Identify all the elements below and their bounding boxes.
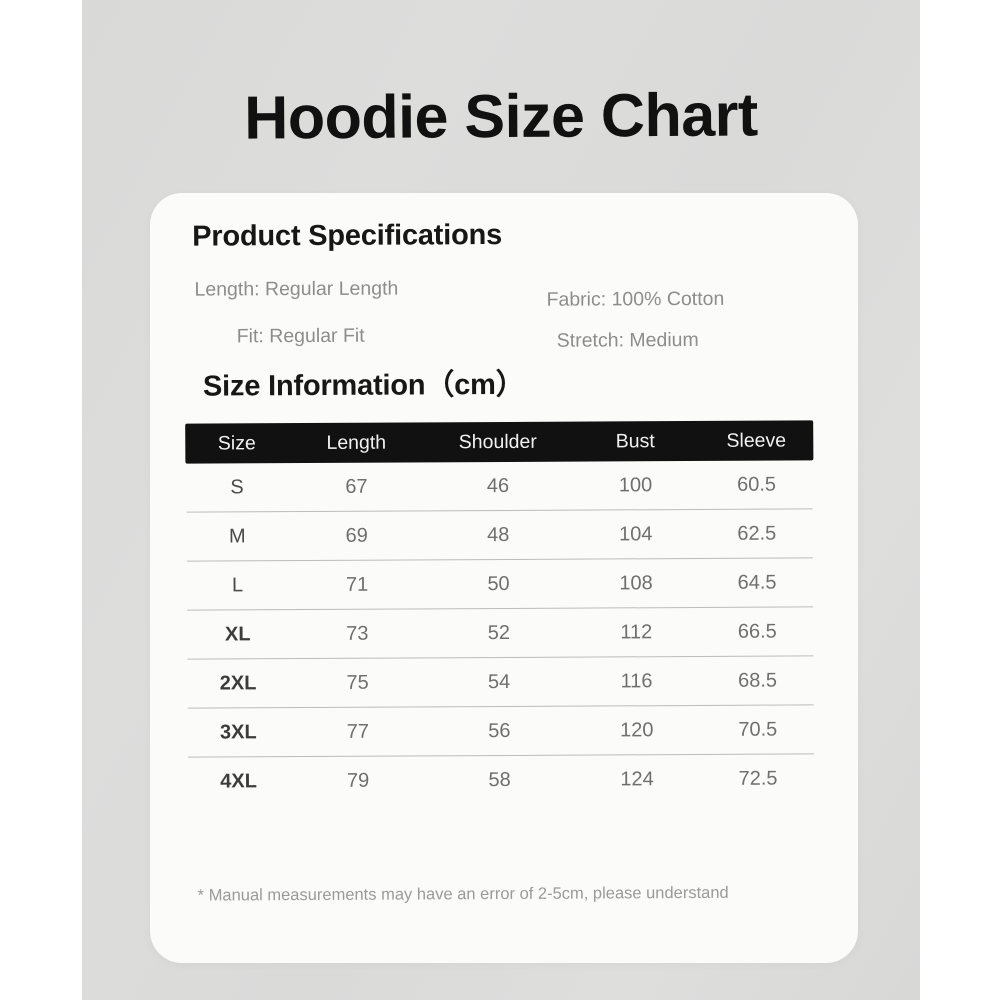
cell-sleeve: 62.5 [700, 522, 814, 546]
cell-sleeve: 68.5 [700, 669, 814, 693]
table-header-row: Size Length Shoulder Bust Sleeve [185, 420, 813, 463]
spec-length: Length: Regular Length [194, 278, 398, 302]
cell-sleeve: 72.5 [701, 767, 815, 791]
spec-card: Product Specifications Length: Regular L… [150, 193, 858, 963]
cell-sleeve: 66.5 [700, 620, 814, 644]
cell-size: 4XL [187, 770, 290, 794]
cell-shoulder: 50 [425, 572, 572, 596]
table-row: 2XL 75 54 116 68.5 [186, 656, 814, 707]
column-header-sleeve: Sleeve [699, 429, 813, 453]
cell-shoulder: 58 [426, 768, 573, 792]
cell-bust: 108 [572, 571, 700, 595]
cell-size: XL [186, 623, 289, 647]
cell-length: 77 [290, 720, 426, 744]
cell-size: L [186, 574, 289, 598]
cell-bust: 124 [573, 767, 701, 791]
cell-shoulder: 56 [426, 719, 573, 743]
table-row: L 71 50 108 64.5 [186, 558, 814, 609]
spec-stretch: Stretch: Medium [557, 329, 699, 353]
table-row: M 69 48 104 62.5 [186, 509, 814, 560]
table-row: S 67 46 100 60.5 [185, 460, 813, 511]
cell-sleeve: 70.5 [701, 718, 815, 742]
column-header-size: Size [185, 432, 288, 456]
spec-fabric: Fabric: 100% Cotton [546, 288, 724, 312]
cell-length: 67 [288, 475, 424, 499]
measurement-disclaimer: * Manual measurements may have an error … [198, 884, 729, 906]
column-header-shoulder: Shoulder [424, 430, 571, 454]
cell-length: 75 [289, 671, 425, 695]
cell-bust: 104 [572, 522, 700, 546]
cell-size: 2XL [186, 672, 289, 696]
cell-sleeve: 60.5 [699, 473, 813, 497]
table-row: 3XL 77 56 120 70.5 [187, 705, 815, 756]
column-header-bust: Bust [571, 429, 699, 453]
cell-length: 71 [289, 573, 425, 597]
size-information-heading: Size Information（cm） [203, 361, 525, 405]
cell-size: 3XL [187, 721, 290, 745]
cell-bust: 112 [572, 620, 700, 644]
cell-bust: 116 [572, 669, 700, 693]
cell-length: 69 [289, 524, 425, 548]
page-title: Hoodie Size Chart [82, 81, 920, 150]
cell-sleeve: 64.5 [700, 571, 814, 595]
column-header-length: Length [288, 431, 424, 455]
product-specifications-heading: Product Specifications [192, 219, 502, 254]
cell-size: M [186, 525, 289, 549]
cell-bust: 120 [573, 718, 701, 742]
cell-shoulder: 52 [425, 621, 572, 645]
cell-shoulder: 46 [424, 474, 571, 498]
cell-shoulder: 54 [425, 670, 572, 694]
size-chart-screen: Hoodie Size Chart Product Specifications… [0, 0, 1000, 1000]
table-row: 4XL 79 58 124 72.5 [187, 754, 815, 805]
cell-size: S [185, 476, 288, 500]
table-row: XL 73 52 112 66.5 [186, 607, 814, 658]
cell-bust: 100 [571, 473, 699, 497]
size-table: Size Length Shoulder Bust Sleeve S 67 46… [185, 420, 815, 805]
cell-shoulder: 48 [425, 523, 572, 547]
cell-length: 73 [289, 622, 425, 646]
spec-fit: Fit: Regular Fit [237, 325, 365, 349]
cell-length: 79 [290, 769, 426, 793]
